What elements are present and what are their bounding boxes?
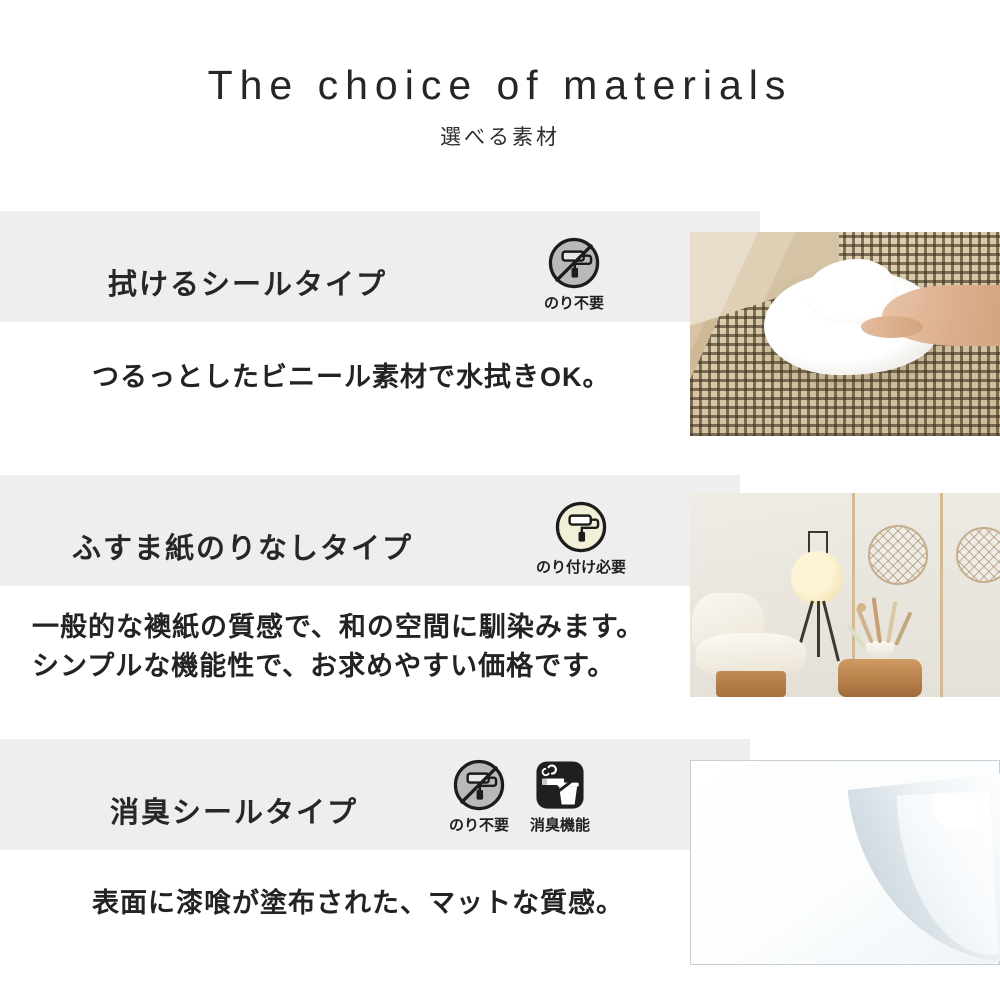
badge-no-glue-label: のり不要 <box>449 814 509 835</box>
section-1-badges: のり不要 <box>543 237 605 313</box>
fusuma-panel-2 <box>940 493 1000 697</box>
section-1-title: 拭けるシールタイプ <box>108 261 387 303</box>
paint-roller-slash-icon <box>548 237 600 289</box>
photo-wiping-rattan-surface-with-towel <box>690 232 1000 436</box>
page-subtitle: 選べる素材 <box>0 109 1000 151</box>
wood-side-table <box>838 659 922 697</box>
badge-deodorize: 消臭機能 <box>524 759 596 835</box>
section-3-body-line-1: 表面に漆喰が塗布された、マットな質感。 <box>92 884 624 923</box>
section-2-band: ふすま紙のりなしタイプ のり付け必要 <box>0 475 740 586</box>
paint-roller-icon <box>555 501 607 553</box>
page-root: The choice of materials 選べる素材 拭けるシールタイプ <box>0 0 1000 1000</box>
section-3-title: 消臭シールタイプ <box>110 789 358 831</box>
badge-deodorize-label: 消臭機能 <box>530 814 590 835</box>
armchair-base <box>716 671 786 697</box>
section-2-body: 一般的な襖紙の質感で、和の空間に馴染みます。 シンプルな機能性で、お求めやすい価… <box>32 608 644 686</box>
photo-japanese-interior-with-fusuma <box>690 493 1000 697</box>
badge-no-glue: のり不要 <box>543 237 605 313</box>
section-3-badges: のり不要 <box>448 759 596 835</box>
section-3-body: 表面に漆喰が塗布された、マットな質感。 <box>92 884 624 923</box>
section-3-band: 消臭シールタイプ のり不要 <box>0 739 750 850</box>
section-1-band: 拭けるシールタイプ のり不要 <box>0 211 760 322</box>
section-2-badges: のり付け必要 <box>522 501 640 577</box>
page-header: The choice of materials 選べる素材 <box>0 0 1000 151</box>
lattice-circle-1 <box>868 525 928 585</box>
section-2-body-line-2: シンプルな機能性で、お求めやすい価格です。 <box>32 647 644 686</box>
badge-no-glue: のり不要 <box>448 759 510 835</box>
photo-white-curling-paper-sheet <box>690 760 1000 965</box>
finger <box>861 316 923 338</box>
section-1-body-line-1: つるっとしたビニール素材で水拭きOK。 <box>92 358 611 397</box>
paper-lantern-shade <box>791 551 843 605</box>
paint-roller-slash-icon <box>453 759 505 811</box>
section-2-body-line-1: 一般的な襖紙の質感で、和の空間に馴染みます。 <box>32 608 644 647</box>
section-1-body: つるっとしたビニール素材で水拭きOK。 <box>92 358 611 397</box>
badge-glue-needed: のり付け必要 <box>522 501 640 577</box>
section-2-title: ふすま紙のりなしタイプ <box>72 525 413 567</box>
page-title: The choice of materials <box>0 0 1000 109</box>
deodorize-icon <box>534 759 586 811</box>
lamp-leg-3 <box>817 601 820 657</box>
badge-no-glue-label: のり不要 <box>544 292 604 313</box>
badge-glue-needed-label: のり付け必要 <box>536 556 626 577</box>
